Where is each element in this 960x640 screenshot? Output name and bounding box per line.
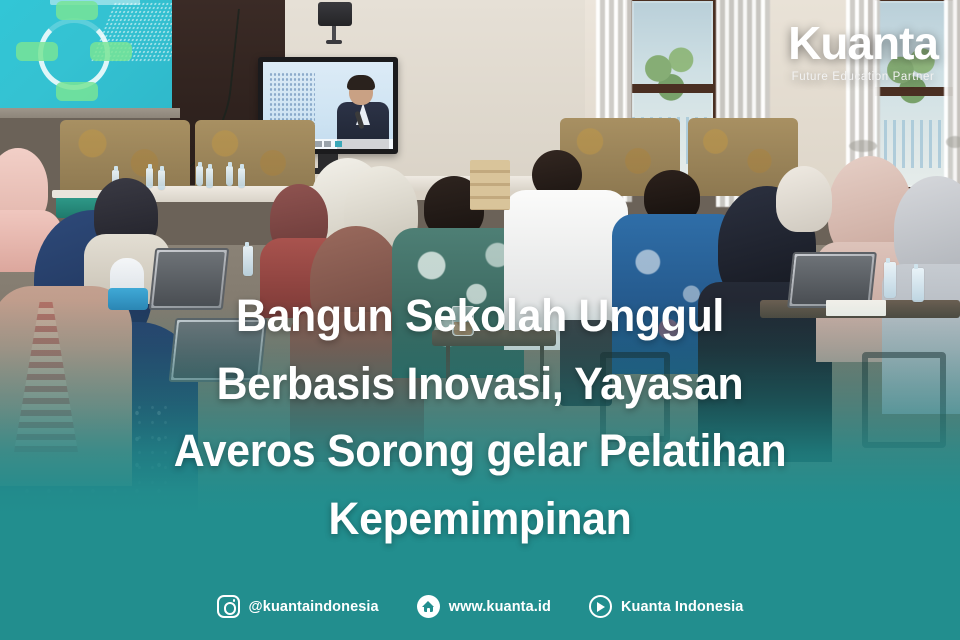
window-greenery	[637, 34, 708, 121]
headline-line-2: Berbasis Inovasi, Yayasan	[24, 350, 936, 418]
logo-wordmark: Kuanta	[788, 20, 938, 66]
speaker-base	[326, 40, 342, 44]
footer-item-instagram[interactable]: @kuantaindonesia	[217, 595, 379, 618]
tv-slide-text	[269, 72, 315, 124]
brand-logo: Kuanta Future Education Partner	[788, 20, 938, 83]
stacked-boxes	[470, 160, 510, 210]
headline-line-1: Bangun Sekolah Unggul	[24, 282, 936, 350]
headline-line-4: Kepemimpinan	[24, 485, 936, 553]
footer-item-youtube[interactable]: Kuanta Indonesia	[589, 595, 743, 618]
water-bottle	[243, 246, 253, 276]
wall-speaker-icon	[318, 2, 352, 26]
logo-tagline: Future Education Partner	[788, 71, 938, 83]
news-thumbnail-card: Kuanta Future Education Partner Bangun S…	[0, 0, 960, 640]
website-url: www.kuanta.id	[449, 599, 551, 615]
headline-line-3: Averos Sorong gelar Pelatihan	[24, 417, 936, 485]
instagram-handle: @kuantaindonesia	[249, 599, 379, 615]
social-footer: @kuantaindonesia www.kuanta.id Kuanta In…	[0, 595, 960, 618]
play-icon	[589, 595, 612, 618]
instagram-icon	[217, 595, 240, 618]
water-bottle	[226, 166, 233, 186]
window-mullion	[632, 84, 713, 93]
curtain	[944, 0, 960, 192]
tv-speaker-person	[337, 75, 389, 149]
water-bottle	[196, 166, 203, 186]
water-bottle	[238, 168, 245, 188]
footer-item-website[interactable]: www.kuanta.id	[417, 595, 551, 618]
headline: Bangun Sekolah Unggul Berbasis Inovasi, …	[0, 282, 960, 552]
youtube-channel: Kuanta Indonesia	[621, 599, 743, 615]
water-bottle	[206, 168, 213, 188]
slide-chip	[16, 42, 58, 61]
home-icon	[417, 595, 440, 618]
window-mullion	[875, 87, 953, 96]
